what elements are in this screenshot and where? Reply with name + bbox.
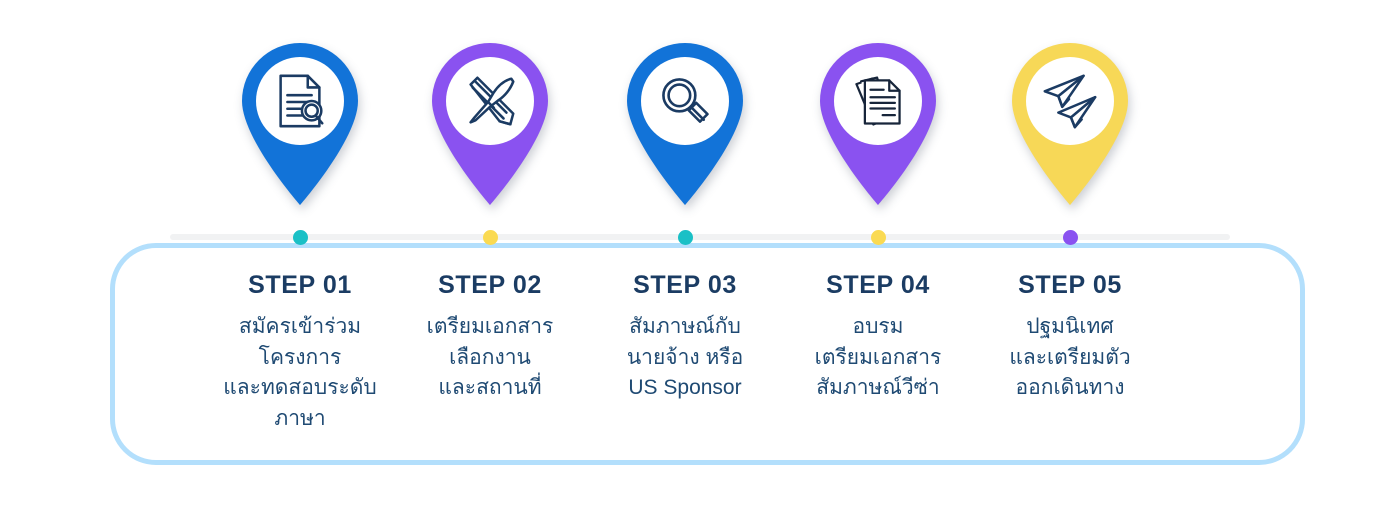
step-column-3: STEP 03 สัมภาษณ์กับ นายจ้าง หรือ US Spon…	[585, 270, 785, 404]
step-column-1: STEP 01 สมัครเข้าร่วม โครงการ และทดสอบระ…	[200, 270, 400, 434]
step-marker-1[interactable]	[232, 33, 368, 205]
step-marker-2[interactable]	[422, 33, 558, 205]
step-description-line: นายจ้าง หรือ	[585, 343, 785, 373]
step-description-line: เตรียมเอกสาร	[778, 343, 978, 373]
step-description-line: สัมภาษณ์วีซ่า	[778, 373, 978, 403]
step-description-1: สมัครเข้าร่วม โครงการ และทดสอบระดับ ภาษา	[200, 312, 400, 434]
step-description-line: เตรียมเอกสาร	[390, 312, 590, 342]
step-marker-3[interactable]	[617, 33, 753, 205]
paper-planes-icon	[1033, 64, 1107, 138]
step-description-line: และทดสอบระดับ	[200, 373, 400, 403]
step-column-2: STEP 02 เตรียมเอกสาร เลือกงาน และสถานที่	[390, 270, 590, 404]
step-title-2: STEP 02	[390, 270, 590, 301]
step-description-line: และเตรียมตัว	[970, 343, 1170, 373]
step-description-line: อบรม	[778, 312, 978, 342]
step-description-line: สัมภาษณ์กับ	[585, 312, 785, 342]
document-search-icon	[263, 64, 337, 138]
timeline-dot-4	[871, 230, 886, 245]
step-marker-4[interactable]	[810, 33, 946, 205]
step-description-line: และสถานที่	[390, 373, 590, 403]
step-description-4: อบรม เตรียมเอกสาร สัมภาษณ์วีซ่า	[778, 312, 978, 403]
step-description-line: ออกเดินทาง	[970, 373, 1170, 403]
step-title-3: STEP 03	[585, 270, 785, 301]
step-column-5: STEP 05 ปฐมนิเทศ และเตรียมตัว ออกเดินทาง	[970, 270, 1170, 404]
step-description-line: US Sponsor	[585, 373, 785, 403]
step-title-4: STEP 04	[778, 270, 978, 301]
step-description-line: โครงการ	[200, 343, 400, 373]
magnifier-icon	[648, 64, 722, 138]
step-description-line: สมัครเข้าร่วม	[200, 312, 400, 342]
timeline-dot-3	[678, 230, 693, 245]
timeline-dot-2	[483, 230, 498, 245]
documents-stack-icon	[841, 64, 915, 138]
step-description-line: เลือกงาน	[390, 343, 590, 373]
infographic-canvas: STEP 01 สมัครเข้าร่วม โครงการ และทดสอบระ…	[0, 0, 1400, 511]
step-title-1: STEP 01	[200, 270, 400, 301]
timeline-dot-1	[293, 230, 308, 245]
step-description-line: ภาษา	[200, 404, 400, 434]
timeline-dot-5	[1063, 230, 1078, 245]
step-description-5: ปฐมนิเทศ และเตรียมตัว ออกเดินทาง	[970, 312, 1170, 403]
step-column-4: STEP 04 อบรม เตรียมเอกสาร สัมภาษณ์วีซ่า	[778, 270, 978, 404]
pencil-brush-icon	[453, 64, 527, 138]
step-description-2: เตรียมเอกสาร เลือกงาน และสถานที่	[390, 312, 590, 403]
step-title-5: STEP 05	[970, 270, 1170, 301]
step-description-line: ปฐมนิเทศ	[970, 312, 1170, 342]
step-marker-5[interactable]	[1002, 33, 1138, 205]
step-description-3: สัมภาษณ์กับ นายจ้าง หรือ US Sponsor	[585, 312, 785, 403]
